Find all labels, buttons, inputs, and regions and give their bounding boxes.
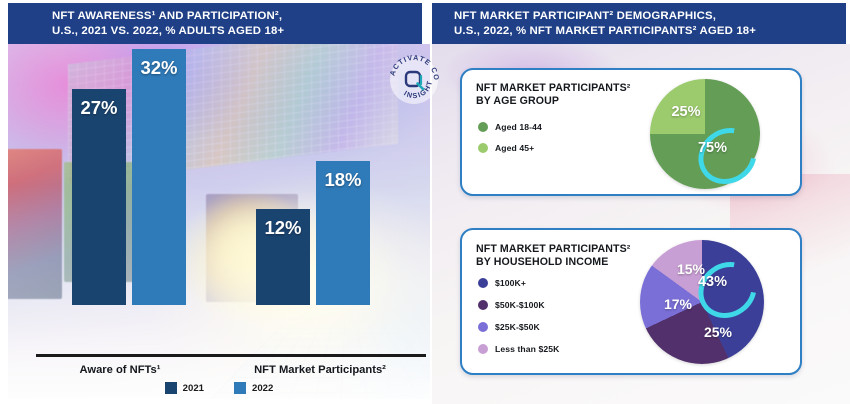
legend-label-2021: 2021 [183, 383, 204, 394]
category-label-aware: Aware of NFTs¹ [30, 364, 210, 376]
household-income-pie-chart: 25% 17% 15% 43% [640, 240, 764, 364]
right-panel-header: NFT MARKET PARTICIPANT² DEMOGRAPHICS,U.S… [432, 3, 846, 44]
category-label-participants: NFT Market Participants² [214, 364, 426, 376]
legend-label-less-than-25k: Less than $25K [495, 344, 559, 354]
legend-dot-aged-45-plus [478, 143, 488, 153]
bar-participants-2022: 18% [316, 161, 370, 305]
right-header-title: NFT MARKET PARTICIPANT² DEMOGRAPHICS,U.S… [454, 9, 756, 37]
bar-chart-legend: 2021 2022 [8, 378, 430, 398]
card-age-legend: Aged 18-44 Aged 45+ [478, 122, 542, 164]
bar-participants-2021: 12% [256, 209, 310, 305]
bar-aware-2022: 32% [132, 49, 186, 305]
legend-item-aged-18-44: Aged 18-44 [478, 122, 542, 132]
legend-item-aged-45-plus: Aged 45+ [478, 143, 542, 153]
bar-label-participants-2022: 18% [316, 169, 370, 191]
legend-item-2022: 2022 [234, 382, 273, 394]
card-age-title: NFT MARKET PARTICIPANTS²BY AGE GROUP [476, 82, 630, 108]
card-age-group: NFT MARKET PARTICIPANTS²BY AGE GROUP Age… [460, 68, 802, 196]
legend-dot-100k-plus [478, 278, 488, 288]
chart-baseline-axis [36, 354, 426, 357]
bar-chart: 27% 32% 12% 18% Aware of NFTs¹ NFT Marke… [8, 44, 430, 399]
age-slice-label-75: 75% [698, 140, 727, 156]
activate-consumer-insight-badge: ACTIVATE CONSUMER INSIGHT [388, 54, 440, 106]
legend-swatch-2022 [234, 382, 246, 394]
legend-label-2022: 2022 [252, 383, 273, 394]
legend-swatch-2021 [165, 382, 177, 394]
legend-dot-less-than-25k [478, 344, 488, 354]
legend-label-25k-50k: $25K-$50K [495, 322, 540, 332]
card-household-income: NFT MARKET PARTICIPANTS²BY HOUSEHOLD INC… [460, 228, 802, 375]
income-slice-label-25: 25% [704, 324, 732, 340]
bar-aware-2021: 27% [72, 89, 126, 305]
card-income-title: NFT MARKET PARTICIPANTS²BY HOUSEHOLD INC… [476, 243, 630, 269]
bar-label-participants-2021: 12% [256, 217, 310, 239]
legend-dot-50k-100k [478, 300, 488, 310]
legend-item-2021: 2021 [165, 382, 204, 394]
income-slice-label-17: 17% [664, 296, 692, 312]
income-slice-highlight-43: 43% [712, 281, 741, 299]
legend-dot-25k-50k [478, 322, 488, 332]
bar-label-aware-2022: 32% [132, 57, 186, 79]
age-slice-label-25: 25% [671, 104, 700, 120]
legend-item-less-than-25k: Less than $25K [478, 344, 559, 354]
legend-item-50k-100k: $50K-$100K [478, 300, 559, 310]
card-income-legend: $100K+ $50K-$100K $25K-$50K Less than $2… [478, 278, 559, 366]
legend-label-50k-100k: $50K-$100K [495, 300, 545, 310]
legend-item-100k-plus: $100K+ [478, 278, 559, 288]
age-slice-highlight-75: 75% [712, 147, 741, 165]
bar-label-aware-2021: 27% [72, 97, 126, 119]
left-header-title: NFT AWARENESS¹ AND PARTICIPATION²,U.S., … [52, 9, 284, 37]
legend-label-aged-18-44: Aged 18-44 [495, 122, 542, 132]
age-group-pie-chart: 25% 75% [650, 79, 760, 189]
left-panel-header: NFT AWARENESS¹ AND PARTICIPATION²,U.S., … [8, 3, 422, 44]
infographic-canvas: NFT AWARENESS¹ AND PARTICIPATION²,U.S., … [0, 0, 850, 404]
legend-dot-aged-18-44 [478, 122, 488, 132]
legend-label-100k-plus: $100K+ [495, 278, 526, 288]
legend-label-aged-45-plus: Aged 45+ [495, 143, 534, 153]
legend-item-25k-50k: $25K-$50K [478, 322, 559, 332]
income-slice-label-43: 43% [698, 274, 727, 290]
